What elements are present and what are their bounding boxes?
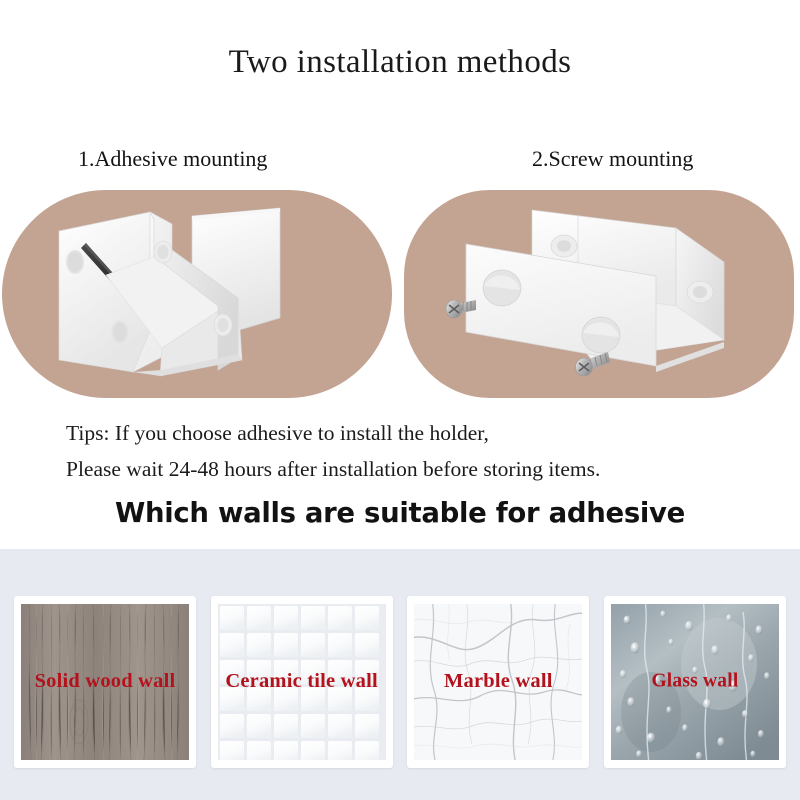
method-1-label: 1.Adhesive mounting [78, 146, 267, 172]
walls-heading: Which walls are suitable for adhesive [0, 497, 800, 529]
screw-mounting-illustration [404, 190, 794, 398]
infographic-page: Two installation methods 1.Adhesive moun… [0, 0, 800, 800]
wall-swatch-solid-wood: Solid wood wall [14, 596, 196, 768]
page-title: Two installation methods [0, 44, 800, 81]
suitable-walls-band: Solid wood wall [0, 549, 800, 800]
wet-glass-droplets-texture: Glass wall [611, 604, 779, 760]
marble-veined-texture: Marble wall [414, 604, 582, 760]
tips-line-1: Tips: If you choose adhesive to install … [66, 421, 489, 446]
ceramic-tile-grid-texture: Ceramic tile wall [218, 604, 386, 760]
wall-swatch-marble: Marble wall [407, 596, 589, 768]
wall-swatch-ceramic-tile: Ceramic tile wall [211, 596, 393, 768]
wood-grain-texture: Solid wood wall [21, 604, 189, 760]
wall-swatch-glass: Glass wall [604, 596, 786, 768]
method-2-label: 2.Screw mounting [532, 146, 693, 172]
adhesive-mounting-illustration [2, 190, 392, 398]
tips-line-2: Please wait 24-48 hours after installati… [66, 457, 600, 482]
wall-swatch-row: Solid wood wall [0, 596, 800, 771]
